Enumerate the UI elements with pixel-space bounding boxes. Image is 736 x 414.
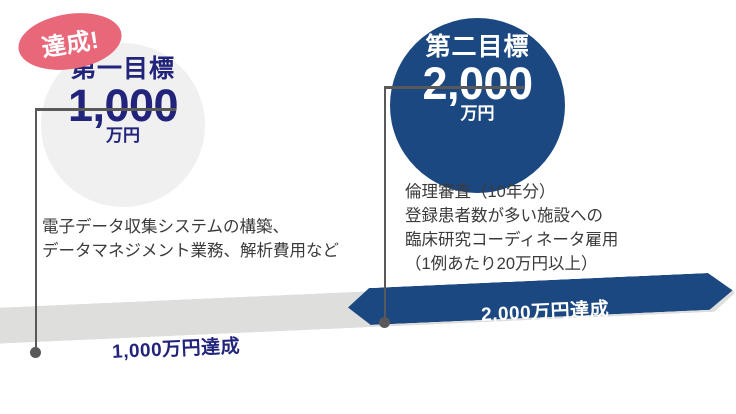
goal-2-divider: [384, 86, 524, 89]
goal-2-unit: 万円: [461, 105, 495, 122]
goal-1-amount: 1,000: [68, 82, 178, 129]
goal-2-description: 倫理審査（10年分） 登録患者数が多い施設への 臨床研究コーディネータ雇用 （1…: [405, 181, 618, 277]
progress-band-goal-1-label: 1,000万円達成: [111, 331, 240, 364]
goal-1-description: 電子データ収集システムの構築、 データマネジメント業務、解析費用など: [42, 216, 339, 264]
goal-1-divider: [37, 108, 176, 111]
connector-dot-goal-2: [379, 317, 390, 328]
achieved-badge-label: 達成!: [39, 20, 101, 64]
infographic-canvas: 1,000万円達成 2,000万円達成 第一目標 1,000 万円 達成! 第二…: [0, 0, 736, 414]
connector-line-goal-1: [35, 108, 37, 354]
goal-2-content: 第二目標 2,000 万円: [390, 18, 565, 193]
goal-2-amount: 2,000: [422, 60, 532, 107]
connector-line-goal-2: [384, 86, 386, 324]
goal-1-unit: 万円: [106, 127, 140, 144]
connector-dot-goal-1: [30, 347, 41, 358]
goal-2-title: 第二目標: [425, 35, 529, 60]
progress-band-goal-2-label: 2,000万円達成: [480, 294, 609, 327]
